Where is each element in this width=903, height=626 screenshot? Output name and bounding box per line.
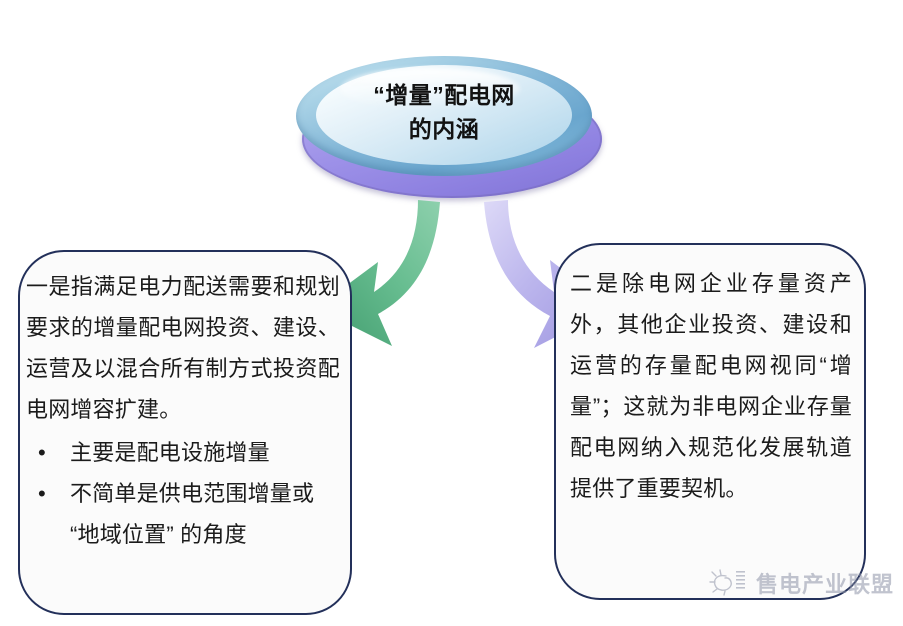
bullet-marker-icon: • (38, 473, 46, 514)
right-content-card: 二是除电网企业存量资产外，其他企业投资、建设和运营的存量配电网视同“增量”；这就… (554, 243, 866, 600)
list-item-label: 不简单是供电范围增量或 “地域位置” 的角度 (70, 481, 314, 547)
list-item-label: 主要是配电设施增量 (70, 440, 270, 465)
left-content-card: 一是指满足电力配送需要和规划要求的增量配电网投资、建设、运营及以混合所有制方式投… (18, 250, 352, 615)
left-card-bullet-list: • 主要是配电设施增量 • 不简单是供电范围增量或 “地域位置” 的角度 (26, 432, 342, 555)
bullet-marker-icon: • (38, 432, 46, 473)
right-card-paragraph: 二是除电网企业存量资产外，其他企业投资、建设和运营的存量配电网视同“增量”；这就… (570, 263, 852, 509)
watermark-label: 售电产业联盟 (756, 567, 894, 599)
watermark: 售电产业联盟 (706, 560, 896, 606)
title-node-label: “增量”配电网 的内涵 (320, 78, 568, 146)
diagram-canvas: “增量”配电网 的内涵 一是指满足电力配送需要和规划要求的增量配电网投资、建设、… (0, 0, 903, 626)
left-card-body: 一是指满足电力配送需要和规划要求的增量配电网投资、建设、运营及以混合所有制方式投… (20, 252, 350, 555)
swirl-logo-icon (706, 566, 746, 600)
left-card-paragraph: 一是指满足电力配送需要和规划要求的增量配电网投资、建设、运营及以混合所有制方式投… (26, 266, 342, 430)
title-node: “增量”配电网 的内涵 (296, 56, 608, 198)
list-item: • 主要是配电设施增量 (26, 432, 342, 473)
right-card-body: 二是除电网企业存量资产外，其他企业投资、建设和运营的存量配电网视同“增量”；这就… (556, 245, 864, 509)
title-node-top: “增量”配电网 的内涵 (296, 56, 592, 176)
list-item: • 不简单是供电范围增量或 “地域位置” 的角度 (26, 473, 342, 555)
